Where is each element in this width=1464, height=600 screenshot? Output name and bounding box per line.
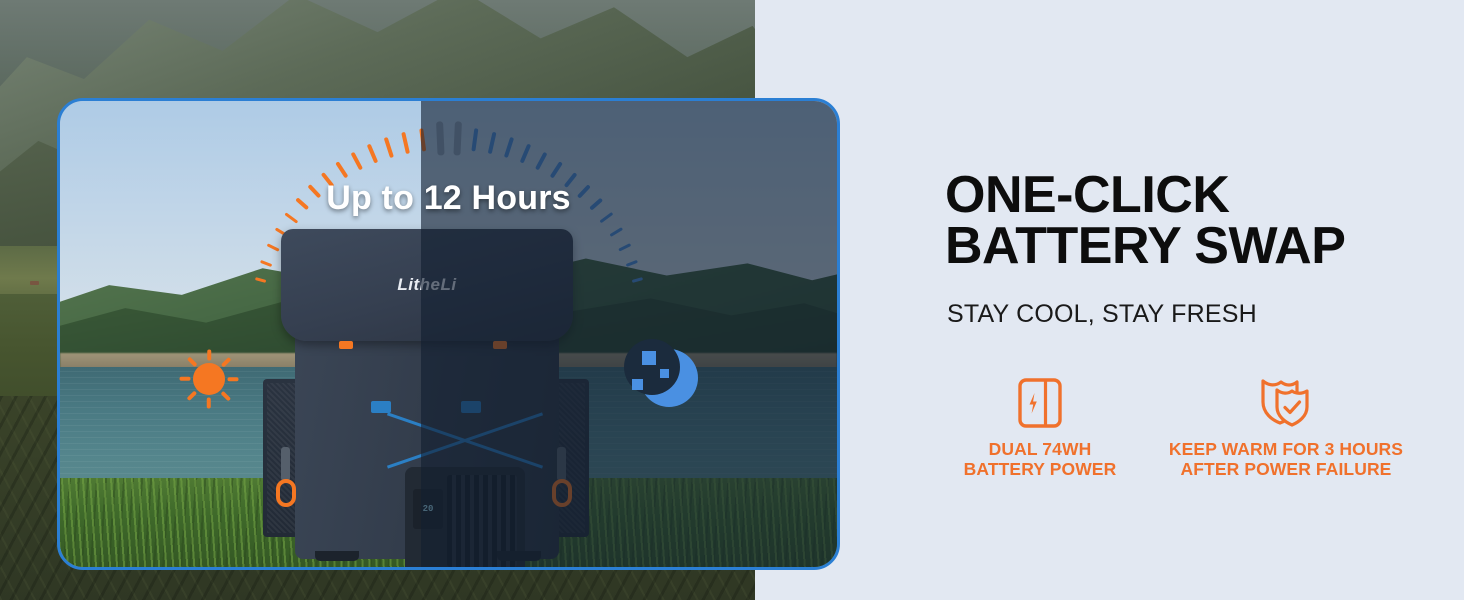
sun-ray (221, 391, 231, 401)
star-icon-2 (660, 369, 669, 378)
sun-ray (207, 398, 211, 409)
cooler-pull-loop-left (276, 479, 296, 507)
star-icon-3 (632, 379, 643, 390)
gauge-tick (366, 144, 378, 164)
sun-core (193, 363, 225, 395)
gauge-tick (401, 132, 410, 154)
sun-ray (207, 350, 211, 361)
star-icon-1 (642, 351, 656, 365)
dual-battery-bolt-icon (945, 375, 1135, 431)
feature-label-battery: DUAL 74WH BATTERY POWER (945, 439, 1135, 480)
feature-warm-line-2: AFTER POWER FAILURE (1181, 459, 1392, 479)
sun-ray (180, 377, 191, 381)
feature-warm-line-1: KEEP WARM FOR 3 HOURS (1169, 439, 1403, 459)
product-image-card: 20 LitheLi (57, 98, 840, 570)
cooler-knob-left (339, 341, 353, 349)
feature-label-keep-warm: KEEP WARM FOR 3 HOURS AFTER POWER FAILUR… (1151, 439, 1421, 480)
double-shield-check-icon (1151, 375, 1421, 431)
promo-banner: 20 LitheLi (0, 0, 1464, 600)
feature-battery-line-2: BATTERY POWER (964, 459, 1117, 479)
feature-battery-line-1: DUAL 74WH (989, 439, 1092, 459)
feature-item-battery: DUAL 74WH BATTERY POWER (945, 375, 1135, 480)
night-overlay (421, 101, 837, 567)
feature-item-keep-warm: KEEP WARM FOR 3 HOURS AFTER POWER FAILUR… (1151, 375, 1421, 480)
feature-list: DUAL 74WH BATTERY POWER KEEP WARM FOR 3 … (945, 375, 1425, 480)
gauge-tick (383, 137, 393, 158)
headline-line-1: ONE-CLICK (945, 166, 1229, 224)
gauge-tick (350, 152, 362, 171)
headline-line-2: BATTERY SWAP (945, 221, 1415, 272)
sun-ray (187, 357, 197, 367)
sun-icon (176, 346, 242, 412)
sun-ray (221, 357, 231, 367)
cooler-clip-left (371, 401, 391, 413)
card-overlay-title: Up to 12 Hours (60, 179, 837, 218)
cooler-foot-left (315, 551, 359, 561)
moon-icon (624, 341, 700, 417)
sun-ray (187, 391, 197, 401)
gauge-tick (335, 161, 348, 178)
cooler-zipper-left (281, 447, 290, 481)
sun-ray (228, 377, 239, 381)
page-title: ONE-CLICK BATTERY SWAP (945, 170, 1415, 273)
marketing-copy-panel: ONE-CLICK BATTERY SWAP STAY COOL, STAY F… (945, 0, 1464, 600)
subheadline: STAY COOL, STAY FRESH (947, 300, 1257, 329)
